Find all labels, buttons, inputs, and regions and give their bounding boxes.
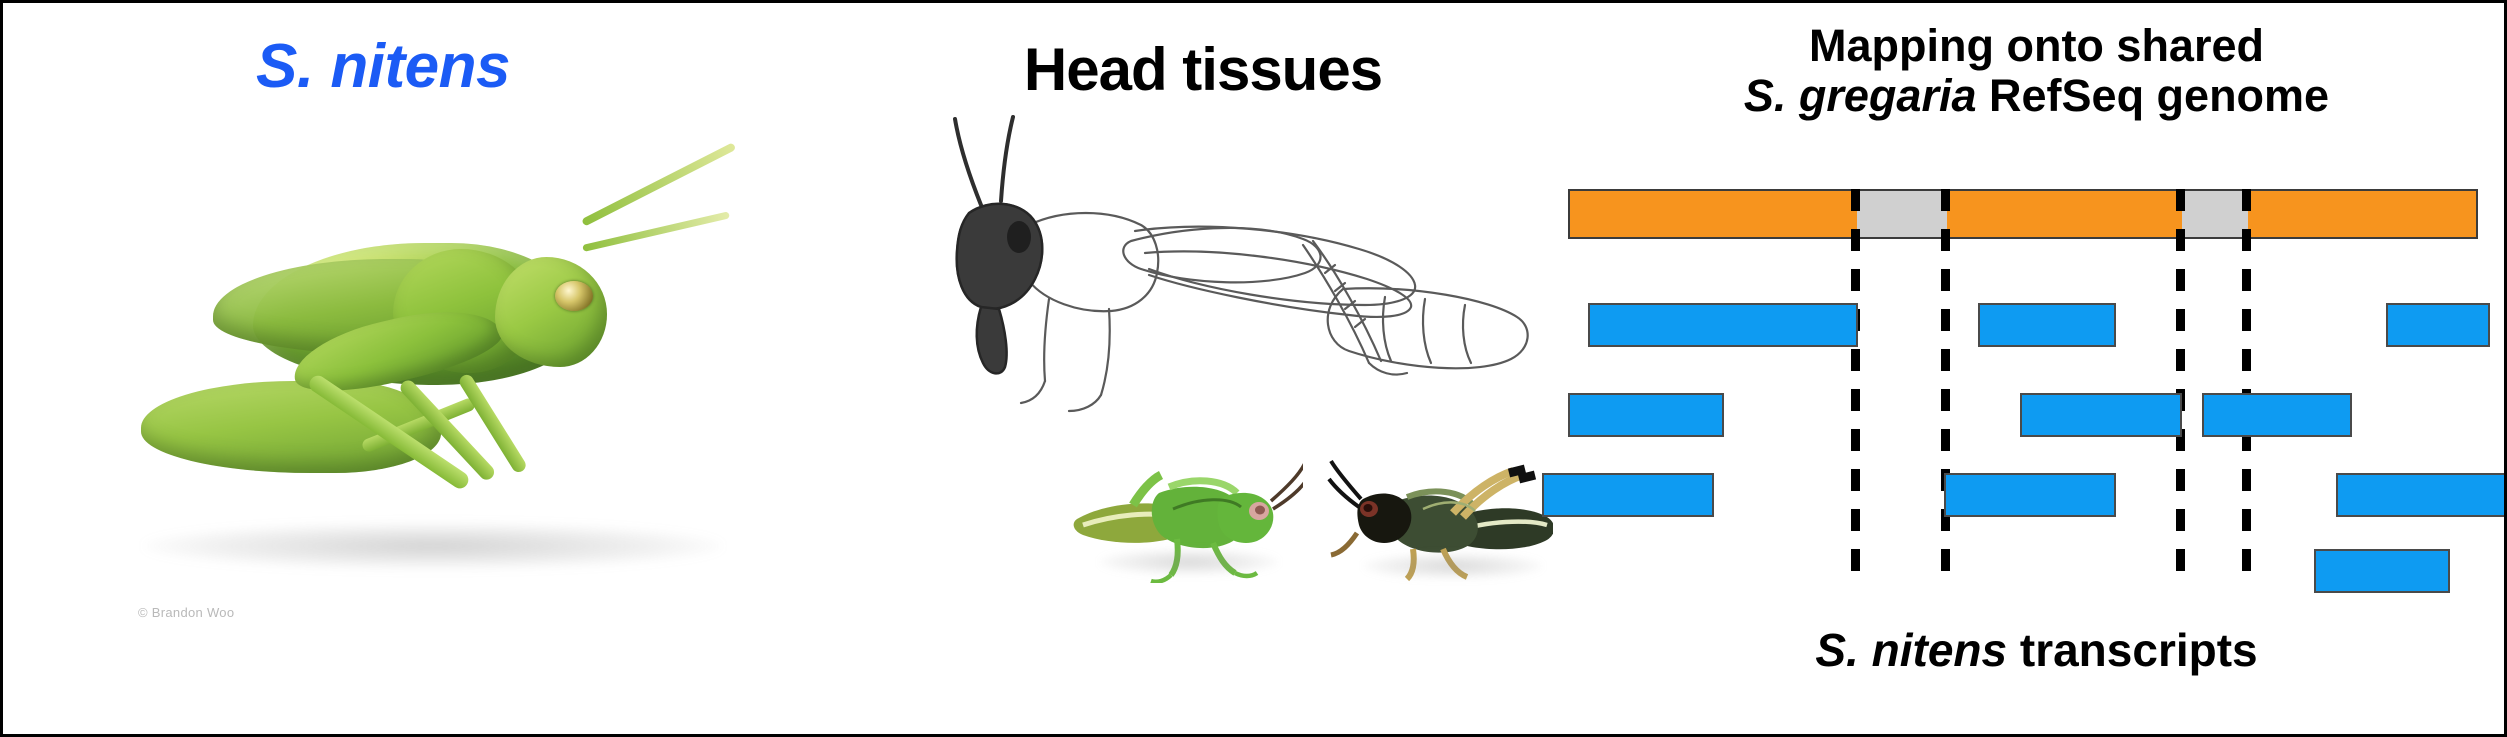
- genome-gap-2: [2182, 191, 2248, 237]
- transcript-block-r2-b2: [2020, 393, 2182, 437]
- transcript-block-r3-b1: [1542, 473, 1714, 517]
- genome-gap-1: [1857, 191, 1947, 237]
- reference-genome-track: [1568, 189, 2478, 239]
- head: [495, 257, 607, 367]
- head-tissues-title: Head tissues: [843, 35, 1563, 104]
- antenna-lower: [582, 211, 730, 252]
- dashed-boundary-line-1: [1851, 189, 1860, 573]
- transcripts-caption-species: S. nitens: [1815, 624, 2007, 676]
- head-shaded-region: [957, 204, 1043, 374]
- photo-credit: © Brandon Woo: [138, 605, 234, 620]
- transcript-block-r2-b3: [2202, 393, 2352, 437]
- eye: [555, 281, 593, 311]
- figure-canvas: S. nitens © Brandon Woo Head tissues: [0, 0, 2507, 737]
- transcript-block-r1-b1: [1588, 303, 1858, 347]
- transcript-block-r1-b3: [2386, 303, 2490, 347]
- mapping-title-species: S. gregaria: [1744, 70, 1977, 121]
- green-grasshopper-specimen: [1073, 453, 1303, 583]
- species-photo: © Brandon Woo: [63, 123, 803, 643]
- photo-drop-shadow: [143, 523, 723, 569]
- panel-mapping-schematic: Mapping onto shared S. gregaria RefSeq g…: [1563, 3, 2507, 737]
- transcript-block-r1-b2: [1978, 303, 2116, 347]
- specimen-shadow: [1363, 553, 1543, 579]
- mapping-title-refseq: RefSeq genome: [1989, 70, 2329, 121]
- dashed-boundary-line-4: [2242, 189, 2251, 573]
- mapping-title-line1: Mapping onto shared: [1563, 21, 2507, 71]
- dark-grasshopper-specimen: [1323, 457, 1553, 587]
- transcript-block-r3-b2: [1944, 473, 2116, 517]
- transcript-block-r4-b1: [2314, 549, 2450, 593]
- mapping-title: Mapping onto shared S. gregaria RefSeq g…: [1563, 21, 2507, 121]
- transcript-block-r2-b1: [1568, 393, 1724, 437]
- dashed-boundary-line-3: [2176, 189, 2185, 573]
- transcript-block-r3-b3: [2336, 473, 2507, 517]
- mapping-title-line2: S. gregaria RefSeq genome: [1563, 71, 2507, 121]
- panel-head-tissues: Head tissues: [843, 3, 1563, 737]
- transcripts-caption-rest: transcripts: [2020, 624, 2258, 676]
- species-title: S. nitens: [163, 31, 603, 102]
- grasshopper-lineart: [873, 113, 1533, 433]
- specimen-photos: [853, 443, 1553, 643]
- specimen-shadow: [1099, 549, 1279, 575]
- transcripts-caption: S. nitens transcripts: [1563, 623, 2507, 677]
- panel-species-photo: S. nitens © Brandon Woo: [3, 3, 843, 737]
